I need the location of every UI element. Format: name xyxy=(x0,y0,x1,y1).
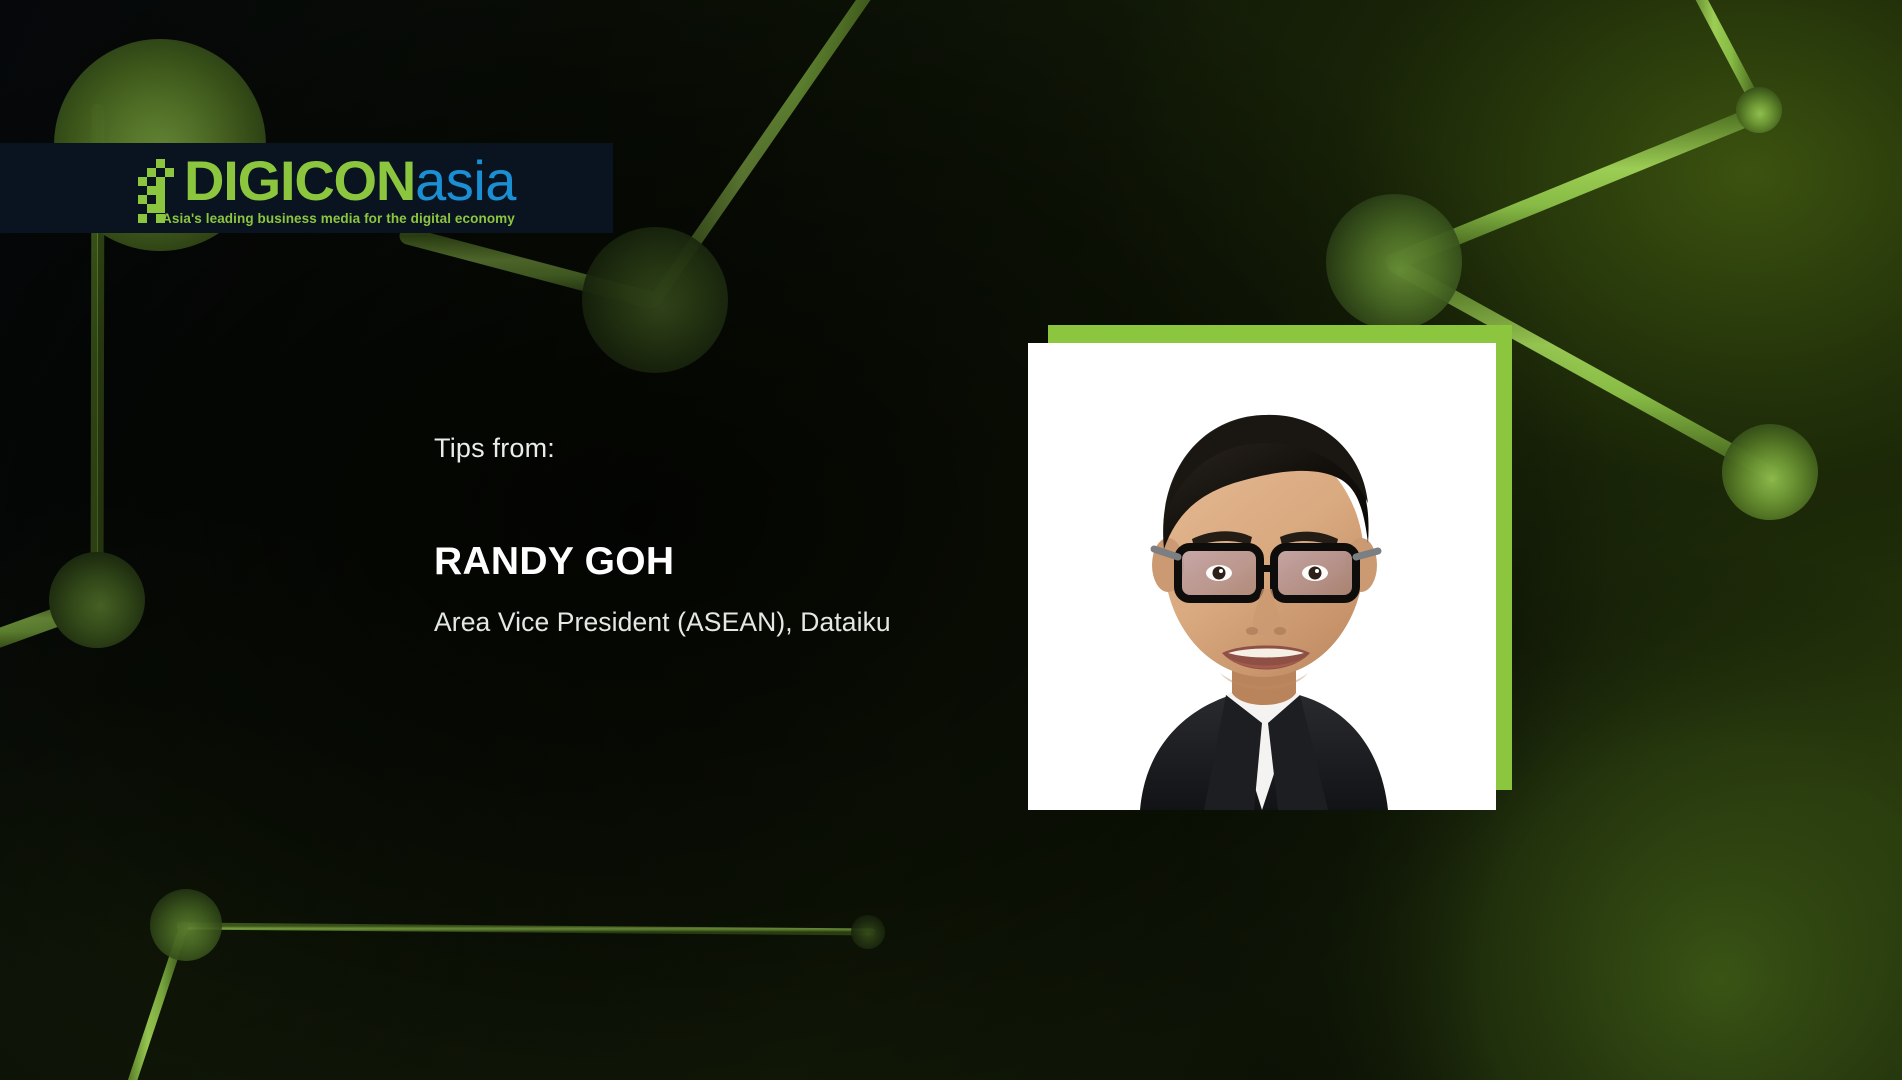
tips-from-label: Tips from: xyxy=(434,433,904,464)
link-bottomleft-horizontal xyxy=(180,926,872,932)
node-top-right xyxy=(1736,87,1782,133)
logo-wordmark: DIGICONasia Asia's leading business medi… xyxy=(184,153,516,209)
node-upper-right-inner xyxy=(1326,194,1462,330)
node-bottom-small xyxy=(851,915,885,949)
speaker-card-slide: DIGICONasia Asia's leading business medi… xyxy=(0,0,1902,1080)
node-center-upper xyxy=(582,227,728,373)
speaker-name: RANDY GOH xyxy=(434,540,904,584)
speaker-portrait-photo xyxy=(1028,343,1496,810)
portrait-card xyxy=(1028,343,1496,810)
node-mid-left xyxy=(49,552,145,648)
logo-asia-text: asia xyxy=(415,153,516,209)
logo-tagline: Asia's leading business media for the di… xyxy=(162,212,515,226)
logo-lockup: DIGICONasia Asia's leading business medi… xyxy=(136,153,516,223)
logo-digicon-text: DIGICON xyxy=(184,153,415,209)
digiconasia-logo-bar[interactable]: DIGICONasia Asia's leading business medi… xyxy=(0,143,613,233)
node-right-mid xyxy=(1722,424,1818,520)
node-bottom-left xyxy=(150,889,222,961)
speaker-job-title: Area Vice President (ASEAN), Dataiku xyxy=(434,606,904,640)
speaker-info-block: Tips from: RANDY GOH Area Vice President… xyxy=(434,433,904,640)
